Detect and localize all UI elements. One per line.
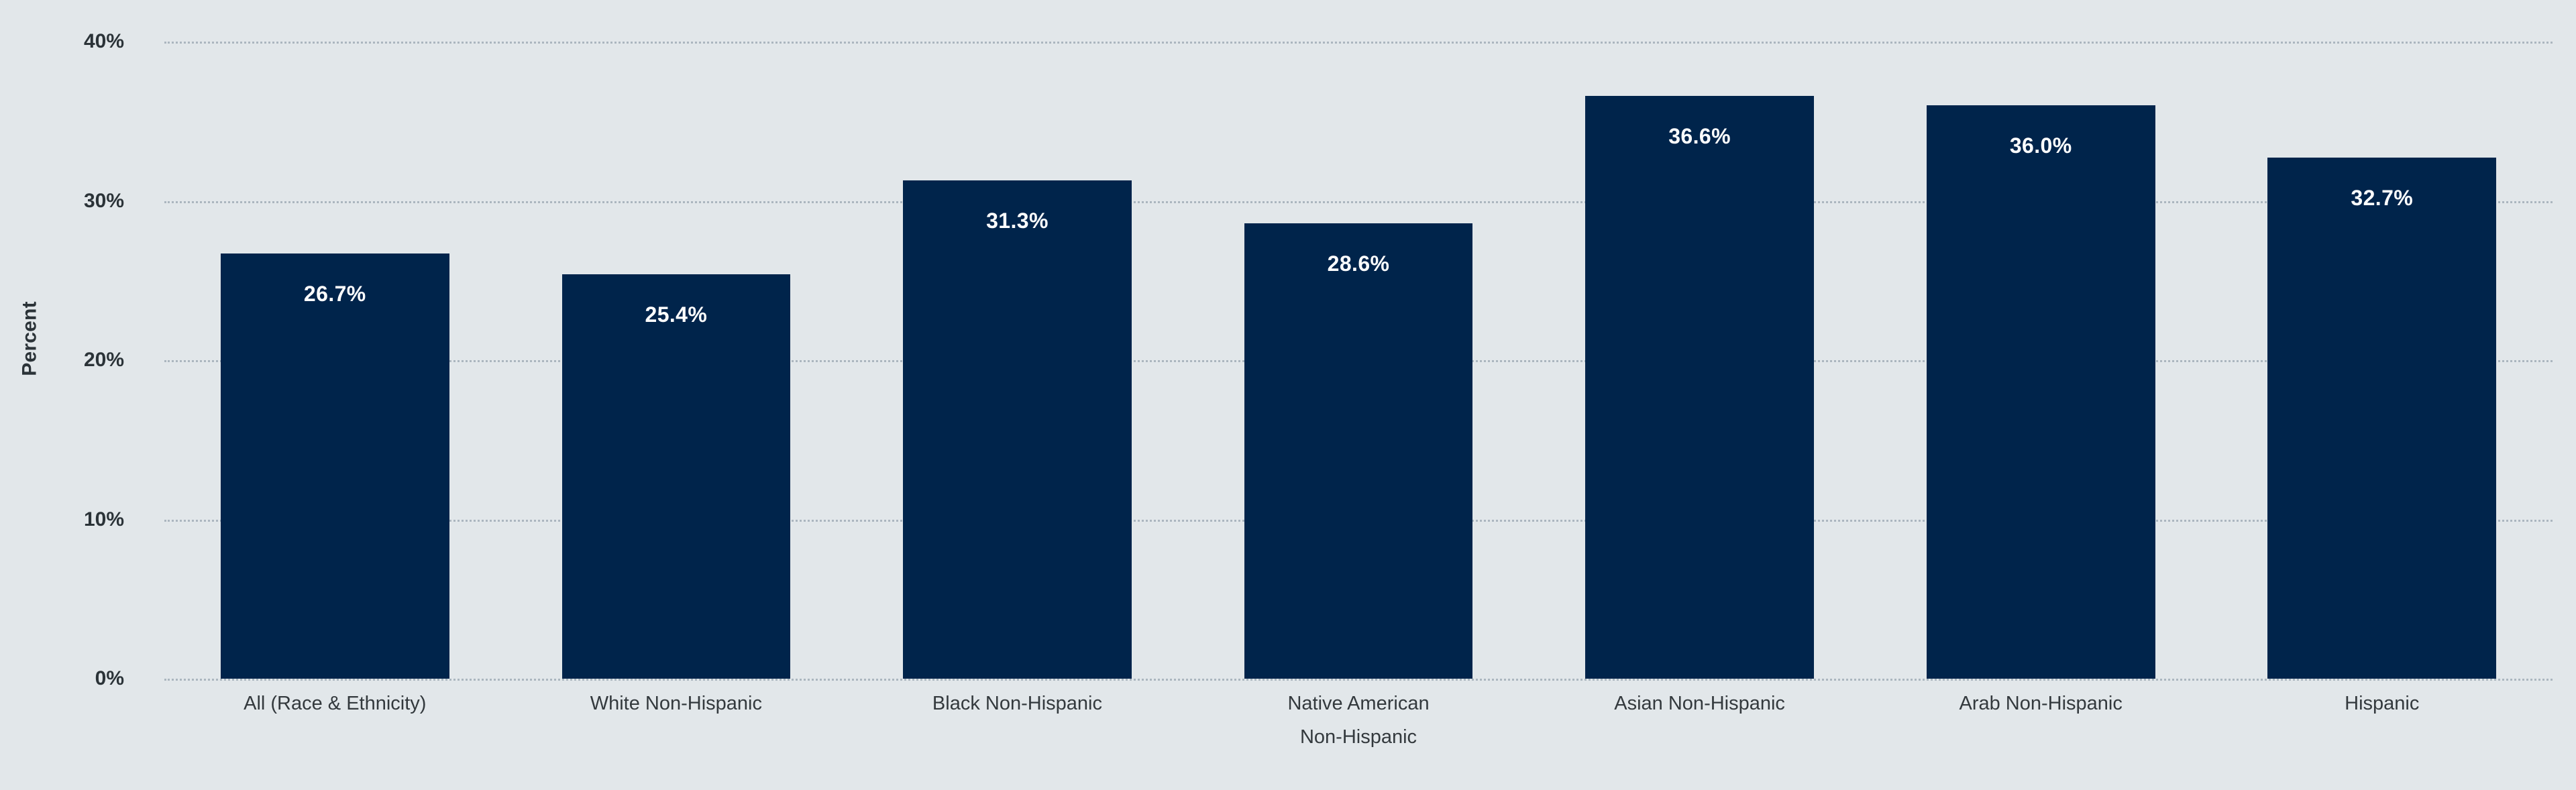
bar[interactable]: 25.4% — [562, 274, 791, 679]
bar-slot: 31.3% — [847, 42, 1188, 679]
x-axis-tick-label: All (Race & Ethnicity) — [164, 687, 506, 781]
y-axis-tick-label: 10% — [10, 508, 124, 531]
bar-slot: 28.6% — [1188, 42, 1529, 679]
bar-value-label: 28.6% — [1244, 251, 1473, 276]
bar-value-label: 36.0% — [1927, 133, 2155, 158]
y-axis-tick-label: 20% — [10, 349, 124, 372]
bar-slot: 36.0% — [1870, 42, 2212, 679]
x-axis-tick-label: Native American Non-Hispanic — [1188, 687, 1529, 781]
y-axis-title: Percent — [0, 0, 60, 677]
bar-value-label: 25.4% — [562, 302, 791, 327]
bar-value-label: 26.7% — [221, 282, 449, 306]
bar-value-label: 36.6% — [1585, 124, 1814, 149]
bar[interactable]: 36.6% — [1585, 96, 1814, 679]
bar[interactable]: 31.3% — [903, 180, 1132, 679]
bar[interactable]: 36.0% — [1927, 105, 2155, 679]
gridline — [164, 679, 2553, 681]
bar[interactable]: 26.7% — [221, 253, 449, 679]
x-axis-tick-label: White Non-Hispanic — [506, 687, 847, 781]
y-axis-tick-label: 30% — [10, 190, 124, 213]
x-axis-tick-label: Black Non-Hispanic — [847, 687, 1188, 781]
bar[interactable]: 28.6% — [1244, 223, 1473, 679]
bar-chart: Percent 0%10%20%30%40% 26.7%25.4%31.3%28… — [0, 0, 2576, 790]
x-axis-tick-label: Asian Non-Hispanic — [1529, 687, 1870, 781]
x-axis-tick-labels: All (Race & Ethnicity)White Non-Hispanic… — [164, 687, 2553, 781]
y-axis-tick-label: 0% — [10, 667, 124, 690]
x-axis-tick-label: Hispanic — [2211, 687, 2553, 781]
bar[interactable]: 32.7% — [2267, 158, 2496, 679]
plot-area: 0%10%20%30%40% 26.7%25.4%31.3%28.6%36.6%… — [164, 42, 2553, 679]
bar-slot: 36.6% — [1529, 42, 1870, 679]
bar-slot: 25.4% — [506, 42, 847, 679]
bars-layer: 26.7%25.4%31.3%28.6%36.6%36.0%32.7% — [164, 42, 2553, 679]
bar-slot: 26.7% — [164, 42, 506, 679]
bar-value-label: 31.3% — [903, 209, 1132, 233]
x-axis-tick-label: Arab Non-Hispanic — [1870, 687, 2212, 781]
bar-value-label: 32.7% — [2267, 186, 2496, 211]
y-axis-tick-label: 40% — [10, 30, 124, 53]
bar-slot: 32.7% — [2211, 42, 2553, 679]
